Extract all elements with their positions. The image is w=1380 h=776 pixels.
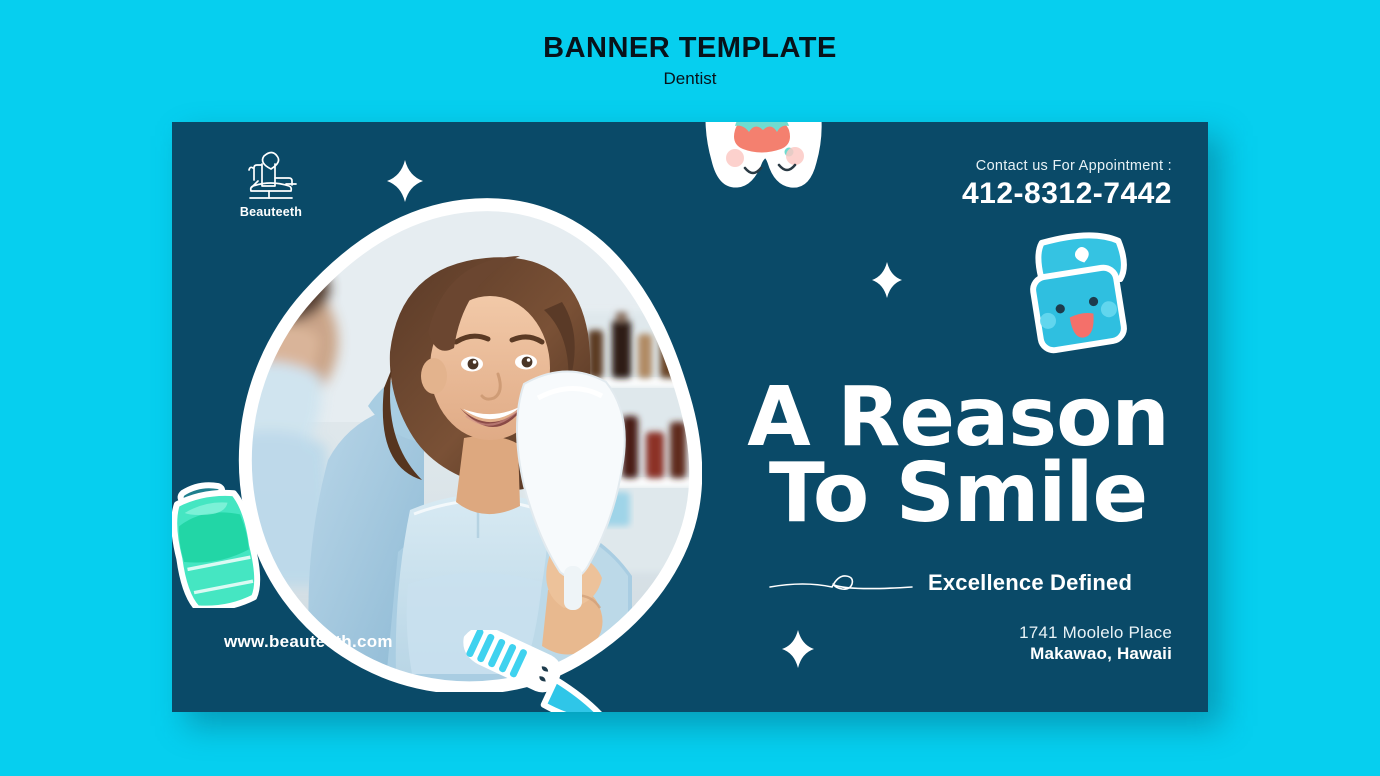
address-block: 1741 Moolelo Place Makawao, Hawaii [1019,622,1172,665]
contact-block: Contact us For Appointment : 412-8312-74… [962,158,1172,212]
tagline: Excellence Defined [928,570,1132,596]
dental-chair-icon [240,150,302,202]
sparkle-star [782,630,814,668]
address-line-1: 1741 Moolelo Place [1019,622,1172,643]
tagline-row: Excellence Defined [768,570,1180,596]
contact-label: Contact us For Appointment : [962,158,1172,175]
website-url[interactable]: www.beauteeth.com [224,632,393,652]
tooth-character-sticker [697,122,827,228]
address-line-2: Makawao, Hawaii [1019,643,1172,664]
toothbrush-sticker [437,630,627,712]
headline-line-2: To Smile [738,456,1178,532]
page-title: BANNER TEMPLATE [543,33,837,65]
mouthwash-bottle-sticker [172,468,268,608]
sparkle-star [387,160,423,202]
flourish-divider [768,570,918,596]
dentist-banner: Beauteeth Contact us For Appointment : 4… [172,122,1208,712]
floss-box-character-sticker [1012,228,1142,358]
brand-logo[interactable]: Beauteeth [216,150,326,219]
headline-block: A Reason To Smile [738,380,1178,533]
brand-name: Beauteeth [240,205,302,219]
headline-line-1: A Reason [738,380,1178,456]
patient-photo [232,192,702,692]
contact-phone[interactable]: 412-8312-7442 [962,177,1172,212]
page-header: BANNER TEMPLATE Dentist [0,0,1380,122]
sparkle-star [872,262,902,298]
page-subtitle: Dentist [664,70,717,89]
